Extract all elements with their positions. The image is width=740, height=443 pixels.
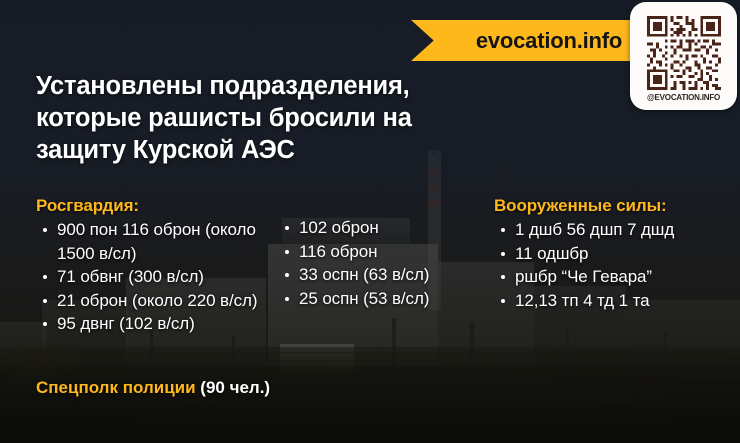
list-item: 11 одшбр: [494, 242, 734, 266]
page-title-line-2: которые рашисты бросили на: [36, 102, 466, 134]
column-heading-rosgvardia: Росгвардия:: [36, 196, 274, 216]
column-rosgvardia-continued: 102 оброн 116 оброн 33 оспн (63 в/сл) 25…: [278, 216, 488, 310]
list-item: 116 оброн: [278, 240, 488, 264]
page-title-line-3: защиту Курской АЭС: [36, 134, 466, 166]
page-title: Установлены подразделения, которые рашис…: [36, 70, 466, 166]
qr-code-card[interactable]: @EVOCATION.INFO: [630, 2, 737, 110]
list-item: 71 обвнг (300 в/сл): [36, 265, 274, 289]
column-heading-armed-forces: Вооруженные силы:: [494, 196, 734, 216]
infographic-poster: evocation.info: [0, 0, 740, 443]
footer-value: (90 чел.): [200, 378, 270, 397]
qr-code-icon: [647, 16, 721, 90]
footer-label: Спецполк полиции: [36, 378, 196, 397]
list-item: 25 оспн (53 в/сл): [278, 287, 488, 311]
list-rosgvardia: 900 пон 116 оброн (около 1500 в/сл) 71 о…: [36, 218, 274, 336]
list-item: 95 двнг (102 в/сл): [36, 312, 274, 336]
list-armed-forces: 1 дшб 56 дшп 7 дшд 11 одшбр ршбр “Че Гев…: [494, 218, 734, 312]
footer-special-police: Спецполк полиции (90 чел.): [36, 378, 270, 398]
list-item: 21 оброн (около 220 в/сл): [36, 289, 274, 313]
page-title-line-1: Установлены подразделения,: [36, 70, 466, 102]
qr-handle-label: @EVOCATION.INFO: [647, 93, 720, 102]
column-armed-forces: Вооруженные силы: 1 дшб 56 дшп 7 дшд 11 …: [494, 196, 734, 312]
list-rosgvardia-continued: 102 оброн 116 оброн 33 оспн (63 в/сл) 25…: [278, 216, 488, 310]
list-item: 1 дшб 56 дшп 7 дшд: [494, 218, 734, 242]
column-rosgvardia: Росгвардия: 900 пон 116 оброн (около 150…: [36, 196, 274, 336]
list-item: 12,13 тп 4 тд 1 та: [494, 289, 734, 313]
site-url-label[interactable]: evocation.info: [449, 20, 649, 61]
list-item: ршбр “Че Гевара”: [494, 265, 734, 289]
list-item: 900 пон 116 оброн (около 1500 в/сл): [36, 218, 274, 265]
list-item: 33 оспн (63 в/сл): [278, 263, 488, 287]
list-item: 102 оброн: [278, 216, 488, 240]
